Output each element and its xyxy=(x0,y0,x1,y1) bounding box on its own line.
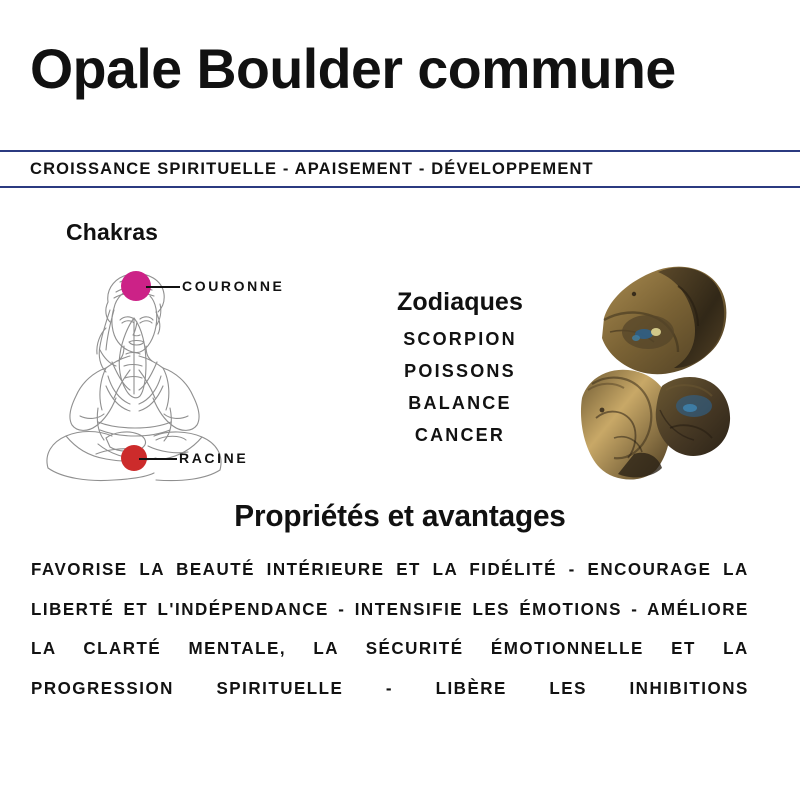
chakras-heading: Chakras xyxy=(66,219,158,246)
leader-line-crown xyxy=(146,286,180,288)
zodiac-sign: POISSONS xyxy=(352,355,568,387)
divider-bottom xyxy=(0,186,800,188)
zodiac-sign: CANCER xyxy=(352,419,568,451)
zodiac-list: SCORPION POISSONS BALANCE CANCER xyxy=(352,323,568,451)
subtitle: CROISSANCE SPIRITUELLE - APAISEMENT - DÉ… xyxy=(30,156,775,182)
boulder-opal-stone-image xyxy=(574,258,754,486)
zodiac-sign: BALANCE xyxy=(352,387,568,419)
properties-heading: Propriétés et avantages xyxy=(16,498,784,534)
leader-line-root xyxy=(139,458,177,460)
page-title: Opale Boulder commune xyxy=(30,38,782,100)
product-info-card: Opale Boulder commune CROISSANCE SPIRITU… xyxy=(0,0,800,800)
zodiac-sign: SCORPION xyxy=(352,323,568,355)
zodiac-heading: Zodiaques xyxy=(352,288,568,317)
properties-body: FAVORISE LA BEAUTÉ INTÉRIEURE ET LA FIDÉ… xyxy=(31,550,749,748)
chakra-label-crown: COURONNE xyxy=(182,278,284,294)
zodiac-section: Zodiaques SCORPION POISSONS BALANCE CANC… xyxy=(352,288,568,451)
chakra-label-root: RACINE xyxy=(179,450,248,466)
divider-top xyxy=(0,150,800,152)
